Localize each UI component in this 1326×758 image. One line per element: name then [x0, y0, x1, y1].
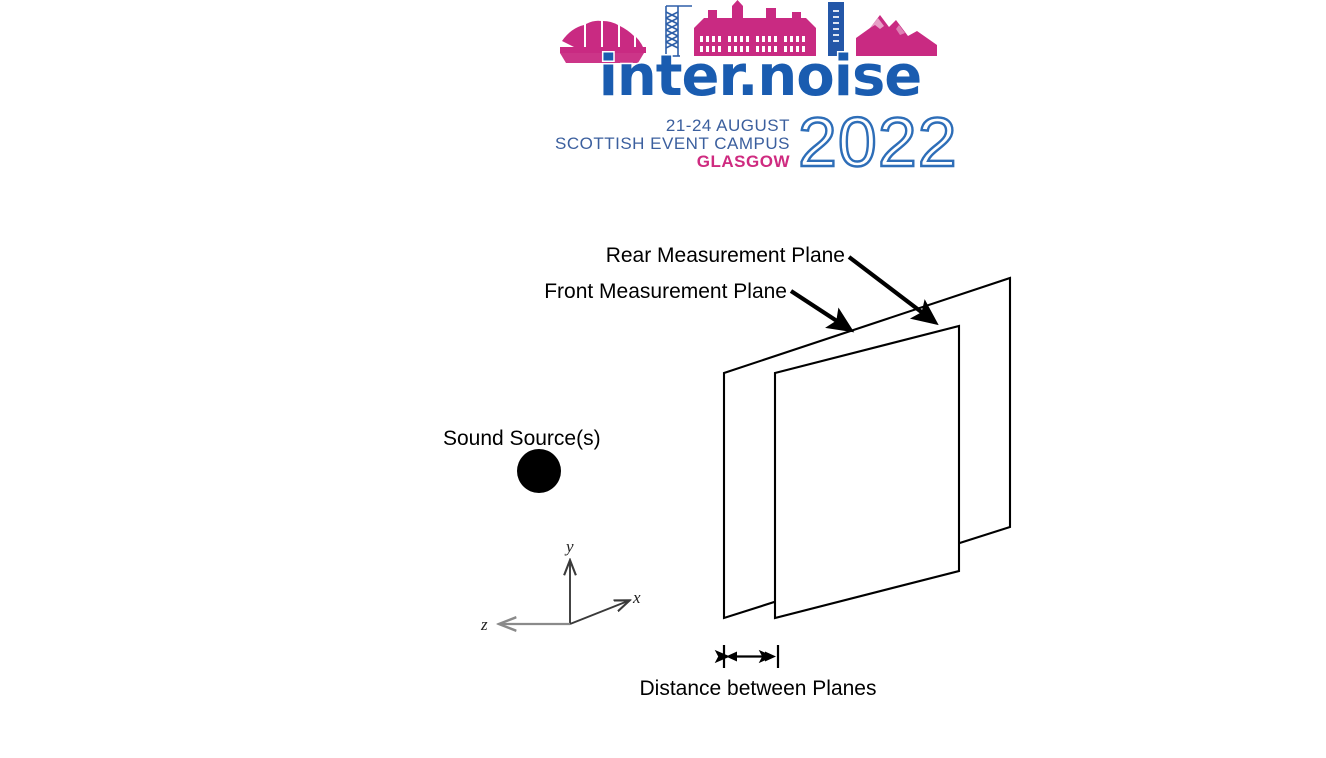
front-plane-callout-arrow-icon [791, 291, 843, 325]
sound-source-marker-icon[interactable] [517, 449, 561, 493]
z-axis-label: z [480, 615, 488, 634]
front-plane-face [775, 326, 959, 618]
rear-plane-callout-arrow-icon [849, 257, 928, 317]
coordinate-axes: y x z [480, 537, 641, 634]
sound-source-label: Sound Source(s) [443, 427, 601, 450]
rear-plane-label: Rear Measurement Plane [606, 244, 845, 267]
front-measurement-plane[interactable] [775, 326, 959, 618]
dimension-arrowhead-right-icon [765, 652, 776, 662]
dimension-arrowhead-left-icon [726, 652, 737, 662]
x-axis-icon [570, 601, 628, 624]
distance-label: Distance between Planes [640, 677, 877, 700]
distance-dimension [724, 645, 778, 668]
x-axis-label: x [632, 588, 641, 607]
y-axis-label: y [564, 537, 574, 556]
measurement-planes-diagram: Rear Measurement Plane Front Measurement… [0, 0, 1326, 758]
front-plane-label: Front Measurement Plane [544, 280, 787, 303]
